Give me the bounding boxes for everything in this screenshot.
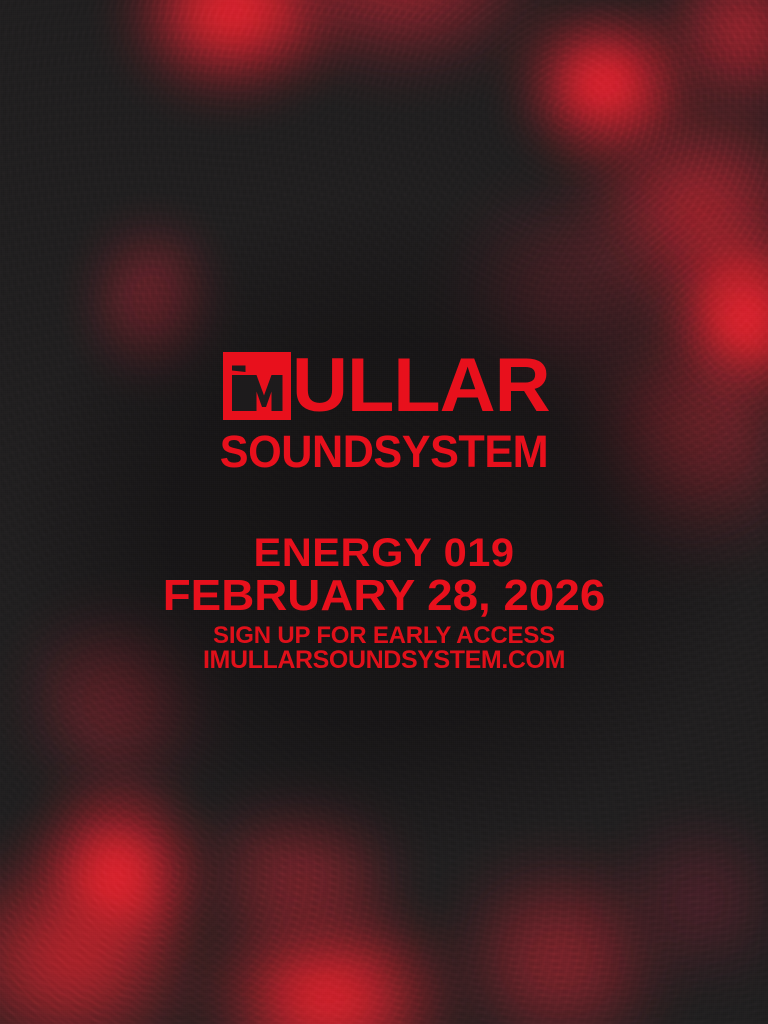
cta-block: SIGN UP FOR EARLY ACCESS IMULLARSOUNDSYS…: [0, 624, 768, 673]
blob-bottom-center: [150, 760, 450, 1000]
blob-top-right-edge: [622, 0, 768, 148]
poster-canvas: ULLAR SOUNDSYSTEM ENERGY 019 FEBRUARY 28…: [0, 0, 768, 1024]
blob-right-upper: [530, 50, 768, 370]
cta-website-url[interactable]: IMULLARSOUNDSYSTEM.COM: [0, 648, 768, 673]
brand-wordmark-text: ULLAR: [292, 354, 550, 418]
event-info-block: ENERGY 019 FEBRUARY 28, 2026: [0, 532, 768, 619]
brand-wordmark: ULLAR: [0, 352, 768, 420]
blob-bottom-left-big: [0, 810, 260, 1024]
event-date: FEBRUARY 28, 2026: [0, 573, 768, 619]
blob-bottom-right: [410, 820, 710, 1024]
background-heatmap-blobs: [0, 0, 768, 1024]
blob-bottom-left-hot: [3, 747, 233, 997]
background-vignette: [0, 0, 768, 1024]
blob-bottom-far-right: [580, 780, 768, 1020]
cta-signup-text: SIGN UP FOR EARLY ACCESS: [0, 624, 768, 648]
blob-bottom-mid-hot: [155, 870, 505, 1024]
event-title: ENERGY 019: [0, 532, 768, 574]
im-monogram-badge-icon: [223, 352, 291, 420]
brand-subtitle: SOUNDSYSTEM: [15, 428, 752, 476]
background-base: [0, 0, 768, 1024]
background-contour-rings: [0, 0, 768, 1024]
blob-top-right-hot: [484, 0, 724, 192]
blob-top-left-bleed: [82, 0, 382, 130]
blob-top-mid: [190, 0, 610, 110]
background-grain: [0, 0, 768, 1024]
